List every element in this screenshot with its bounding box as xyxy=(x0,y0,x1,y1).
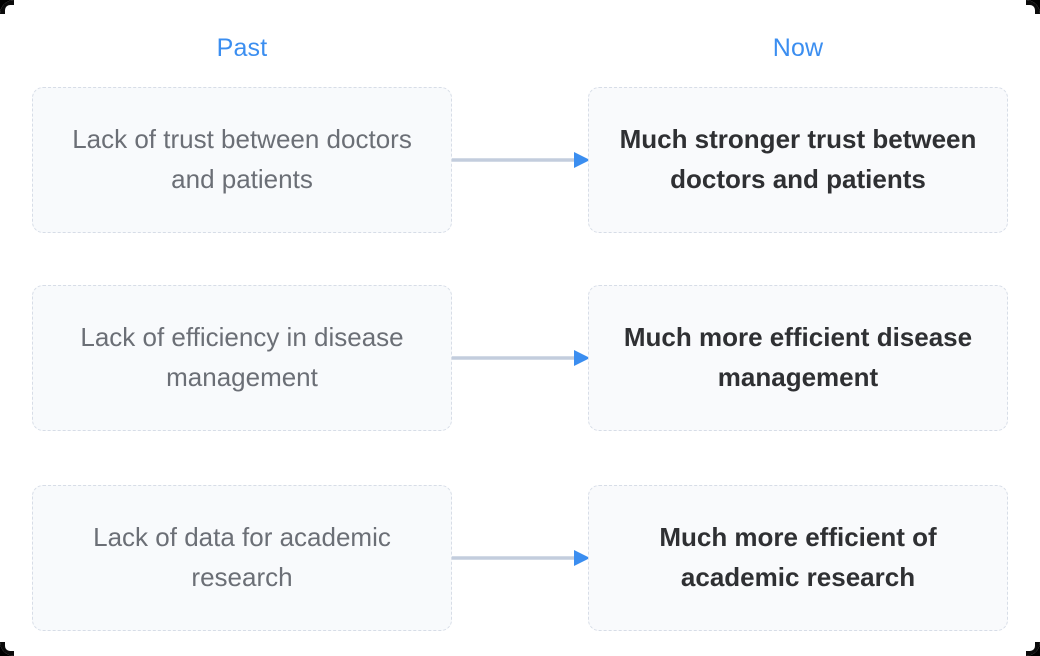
arrow-right-icon xyxy=(452,348,590,368)
comparison-row: Lack of efficiency in disease management… xyxy=(0,285,1040,431)
now-box-label: Much stronger trust between doctors and … xyxy=(618,120,978,199)
past-box: Lack of data for academic research xyxy=(32,485,452,631)
frame-corner-bottom-left xyxy=(0,642,14,656)
comparison-diagram: Past Now Lack of trust between doctors a… xyxy=(0,0,1040,656)
frame-corner-top-right xyxy=(1026,0,1040,14)
now-box-label: Much more efficient disease management xyxy=(618,318,978,397)
past-box: Lack of efficiency in disease management xyxy=(32,285,452,431)
now-box: Much more efficient disease management xyxy=(588,285,1008,431)
now-box-label: Much more efficient of academic research xyxy=(618,518,978,597)
now-box: Much stronger trust between doctors and … xyxy=(588,87,1008,233)
past-box-label: Lack of trust between doctors and patien… xyxy=(72,120,412,199)
arrow-right-icon xyxy=(452,150,590,170)
now-box: Much more efficient of academic research xyxy=(588,485,1008,631)
past-box-label: Lack of data for academic research xyxy=(72,518,412,597)
frame-corner-top-left xyxy=(0,0,14,14)
comparison-row: Lack of data for academic research Much … xyxy=(0,485,1040,631)
column-header-now: Now xyxy=(588,34,1008,63)
column-header-past: Past xyxy=(32,34,452,63)
frame-corner-bottom-right xyxy=(1026,642,1040,656)
arrow-right-icon xyxy=(452,548,590,568)
past-box-label: Lack of efficiency in disease management xyxy=(72,318,412,397)
past-box: Lack of trust between doctors and patien… xyxy=(32,87,452,233)
comparison-row: Lack of trust between doctors and patien… xyxy=(0,87,1040,233)
